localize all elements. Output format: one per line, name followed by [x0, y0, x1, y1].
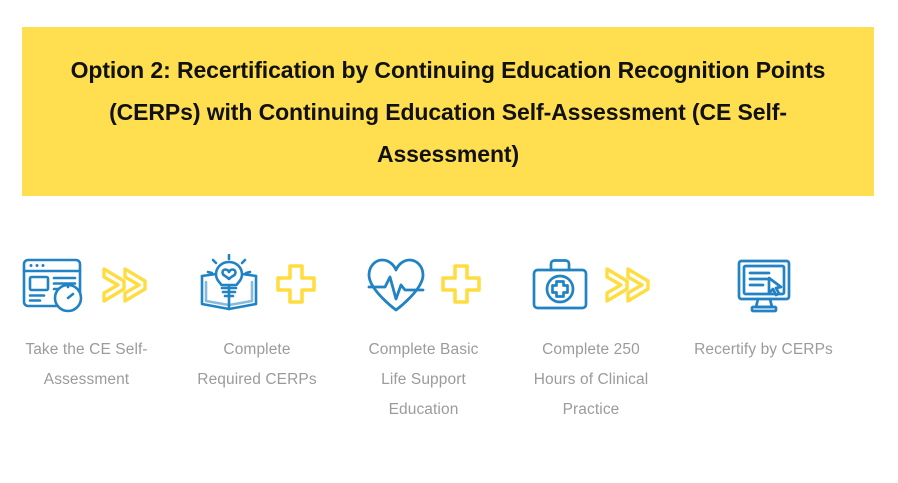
steps-row: Take the CE Self-Assessment — [0, 240, 898, 425]
step-complete-basic-life-support-education: Complete Basic Life Support Education — [341, 240, 506, 425]
step-1-icon-row — [20, 240, 153, 330]
step-5-label: Recertify by CERPs — [694, 335, 834, 365]
step-2-icon-row — [194, 240, 320, 330]
step-3-icon-row — [363, 240, 485, 330]
step-recertify-by-cerps: Recertify by CERPs — [676, 240, 851, 365]
browser-stopwatch-icon — [20, 254, 90, 316]
double-chevron-icon — [601, 261, 656, 309]
plus-icon — [437, 261, 485, 309]
double-chevron-icon — [98, 261, 153, 309]
step-take-ce-self-assessment: Take the CE Self-Assessment — [0, 240, 173, 395]
recertification-option-2-infographic: Option 2: Recertification by Continuing … — [0, 0, 898, 483]
page-title: Option 2: Recertification by Continuing … — [68, 49, 828, 175]
step-1-label: Take the CE Self-Assessment — [22, 335, 152, 395]
step-complete-required-cerps: Complete Required CERPs — [173, 240, 341, 395]
plus-icon — [272, 261, 320, 309]
heart-pulse-icon — [363, 254, 429, 316]
book-lightbulb-heart-icon — [194, 254, 264, 316]
first-aid-kit-icon — [527, 254, 593, 316]
step-3-label: Complete Basic Life Support Education — [359, 335, 489, 425]
monitor-cursor-icon — [731, 254, 797, 316]
step-2-label: Complete Required CERPs — [192, 335, 322, 395]
step-complete-250-hours-clinical-practice: Complete 250 Hours of Clinical Practice — [506, 240, 676, 425]
banner: Option 2: Recertification by Continuing … — [22, 27, 874, 196]
step-5-icon-row — [731, 240, 797, 330]
step-4-icon-row — [527, 240, 656, 330]
step-4-label: Complete 250 Hours of Clinical Practice — [526, 335, 656, 425]
